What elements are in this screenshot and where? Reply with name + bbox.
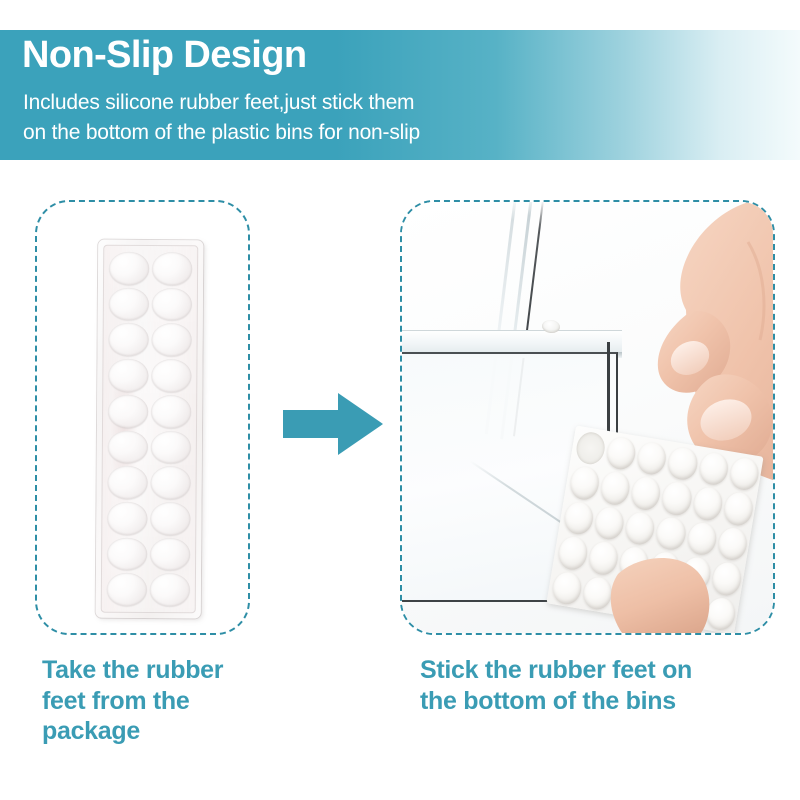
rubber-foot [107, 573, 147, 606]
rubber-foot [108, 359, 148, 392]
right-arrow-icon [283, 393, 383, 455]
rubber-foot [151, 395, 191, 428]
rubber-foot [150, 502, 190, 535]
header-subtitle: Includes silicone rubber feet,just stick… [23, 88, 420, 148]
rubber-foot [151, 359, 191, 392]
rubber-foot [152, 252, 192, 285]
rubber-foot [108, 430, 148, 463]
rubber-foot [697, 451, 730, 488]
hand-holding-sheet [522, 502, 775, 635]
rubber-foot [152, 288, 192, 321]
rubber-foot [151, 431, 191, 464]
rubber-foot [636, 440, 669, 477]
step-2-caption: Stick the rubber feet on the bottom of t… [420, 655, 780, 716]
rubber-foot [150, 573, 190, 606]
rubber-foot [109, 323, 149, 356]
rubber-foot [151, 466, 191, 499]
application-scene-image [402, 202, 773, 633]
rubber-foot [107, 537, 147, 570]
rubber-foot [109, 252, 149, 285]
rubber-foot [568, 465, 601, 502]
rubber-foot [109, 287, 149, 320]
rubber-foot [108, 395, 148, 428]
rubber-foot [574, 430, 607, 467]
step-1-panel [35, 200, 250, 635]
rubber-foot [666, 446, 699, 483]
hand-icon [522, 502, 775, 635]
blister-package-image [96, 240, 204, 619]
rubber-foot [728, 456, 761, 493]
rubber-foot [150, 538, 190, 571]
infographic-page: Non-Slip Design Includes silicone rubber… [0, 0, 800, 800]
rubber-foot [107, 502, 147, 535]
rubber-foot [108, 466, 148, 499]
package-feet-grid [104, 249, 196, 610]
page-title: Non-Slip Design [22, 36, 306, 74]
rubber-foot [152, 323, 192, 356]
step-2-panel [400, 200, 775, 635]
rubber-foot [605, 435, 638, 472]
step-1-caption: Take the rubber feet from the package [42, 655, 282, 747]
step-arrow [283, 393, 383, 455]
